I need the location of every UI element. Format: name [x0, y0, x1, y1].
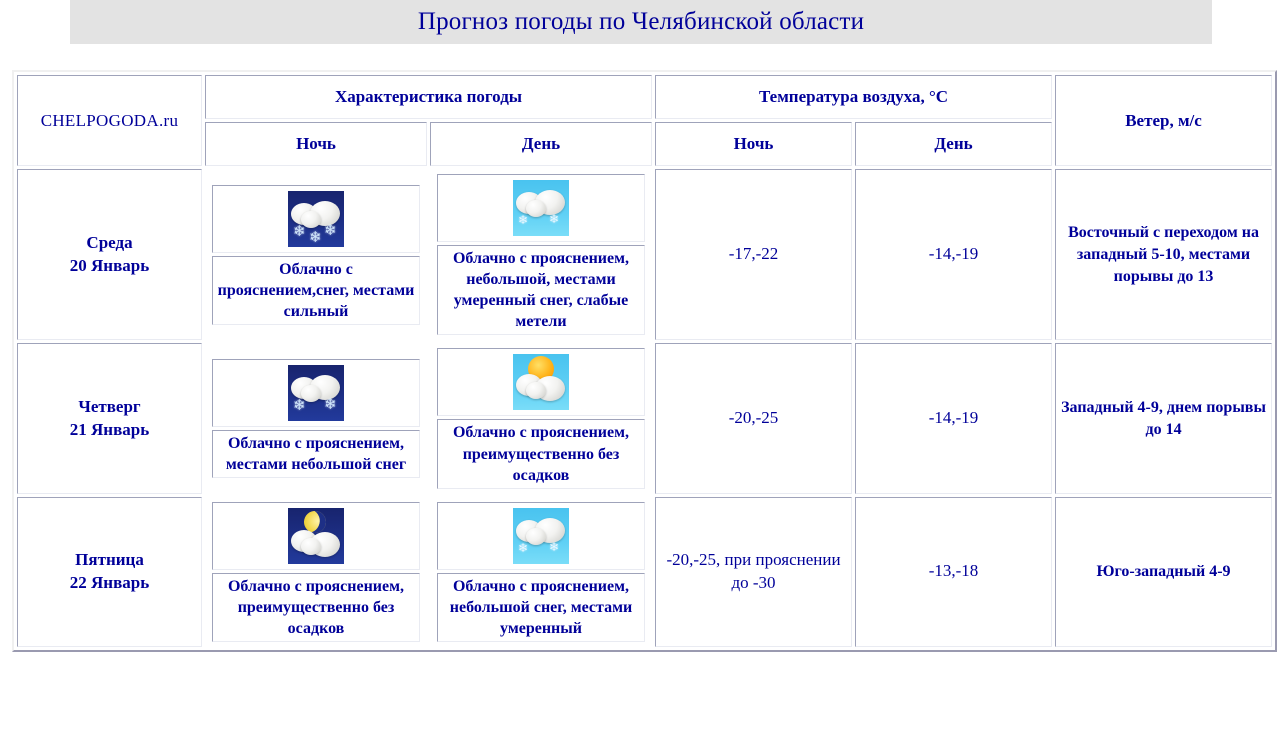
temp-day-value: -14,-19 [855, 343, 1052, 493]
weekday-label: Среда [22, 232, 197, 255]
date-label: 22 Январь [22, 572, 197, 595]
day-date-cell: Среда 20 Январь [17, 169, 202, 340]
night-icon-cell: ❄❄❄ [212, 185, 420, 253]
header-weather-night: Ночь [205, 122, 427, 166]
day-date-cell: Пятница 22 Январь [17, 497, 202, 647]
header-temp-night: Ночь [655, 122, 852, 166]
table-row: Среда 20 Январь ❄❄❄ Облачно с прояснение… [17, 169, 1272, 340]
weekday-label: Пятница [22, 549, 197, 572]
night-description: Облачно с прояснением, местами небольшой… [212, 430, 420, 478]
table-row: Четверг 21 Январь ❄❄ Облачно с прояснени… [17, 343, 1272, 493]
wind-value: Западный 4-9, днем порывы до 14 [1055, 343, 1272, 493]
night-condition-table: Облачно с прояснением, преимущественно б… [209, 499, 423, 645]
night-condition-table: ❄❄❄ Облачно с прояснением,снег, местами … [209, 182, 423, 328]
forecast-table-wrap: CHELPOGODA.ru Характеристика погоды Темп… [12, 70, 1268, 652]
night-description: Облачно с прояснением, преимущественно б… [212, 573, 420, 642]
temp-night-value: -20,-25 [655, 343, 852, 493]
day-icon-cell [437, 348, 645, 416]
temp-night-value: -17,-22 [655, 169, 852, 340]
night-condition-table: ❄❄ Облачно с прояснением, местами неболь… [209, 356, 423, 481]
moon-behind-clouds-icon [288, 508, 344, 564]
wind-value: Юго-западный 4-9 [1055, 497, 1272, 647]
day-description: Облачно с прояснением, небольшой, местам… [437, 245, 645, 335]
header-row-top: CHELPOGODA.ru Характеристика погоды Темп… [17, 75, 1272, 119]
night-icon-cell: ❄❄ [212, 359, 420, 427]
day-date-cell: Четверг 21 Январь [17, 343, 202, 493]
page-title-band: Прогноз погоды по Челябинской области [70, 0, 1212, 44]
cloudy-day-light-snow-icon: ❄❄ [513, 508, 569, 564]
weekday-label: Четверг [22, 396, 197, 419]
night-description: Облачно с прояснением,снег, местами силь… [212, 256, 420, 325]
cloudy-night-light-snow-icon: ❄❄ [288, 365, 344, 421]
day-icon-cell: ❄❄ [437, 174, 645, 242]
header-air-temperature: Температура воздуха, °C [655, 75, 1052, 119]
day-description: Облачно с прояснением, преимущественно б… [437, 419, 645, 488]
day-icon-cell: ❄❄ [437, 502, 645, 570]
night-icon-cell [212, 502, 420, 570]
header-wind: Ветер, м/с [1055, 75, 1272, 166]
page-title: Прогноз погоды по Челябинской области [418, 8, 864, 36]
wind-value: Восточный с переходом на западный 5-10, … [1055, 169, 1272, 340]
brand-cell[interactable]: CHELPOGODA.ru [17, 75, 202, 166]
header-weather-characteristic: Характеристика погоды [205, 75, 652, 119]
night-condition-cell: ❄❄❄ Облачно с прояснением,снег, местами … [205, 169, 427, 340]
table-row: Пятница 22 Январь Облачно с прояснением,… [17, 497, 1272, 647]
day-description: Облачно с прояснением, небольшой снег, м… [437, 573, 645, 642]
header-weather-day: День [430, 122, 652, 166]
header-temp-day: День [855, 122, 1052, 166]
day-condition-cell: ❄❄ Облачно с прояснением, небольшой, мес… [430, 169, 652, 340]
date-label: 21 Январь [22, 419, 197, 442]
temp-day-value: -13,-18 [855, 497, 1052, 647]
forecast-table: CHELPOGODA.ru Характеристика погоды Темп… [12, 70, 1277, 652]
temp-night-value: -20,-25, при прояснении до -30 [655, 497, 852, 647]
day-condition-cell: ❄❄ Облачно с прояснением, небольшой снег… [430, 497, 652, 647]
day-condition-cell: Облачно с прояснением, преимущественно б… [430, 343, 652, 493]
cloudy-night-heavy-snow-icon: ❄❄❄ [288, 191, 344, 247]
cloudy-day-snow-icon: ❄❄ [513, 180, 569, 236]
day-condition-table: ❄❄ Облачно с прояснением, небольшой снег… [434, 499, 648, 645]
night-condition-cell: ❄❄ Облачно с прояснением, местами неболь… [205, 343, 427, 493]
night-condition-cell: Облачно с прояснением, преимущественно б… [205, 497, 427, 647]
day-condition-table: Облачно с прояснением, преимущественно б… [434, 345, 648, 491]
sun-behind-clouds-icon [513, 354, 569, 410]
day-condition-table: ❄❄ Облачно с прояснением, небольшой, мес… [434, 171, 648, 338]
date-label: 20 Январь [22, 255, 197, 278]
temp-day-value: -14,-19 [855, 169, 1052, 340]
